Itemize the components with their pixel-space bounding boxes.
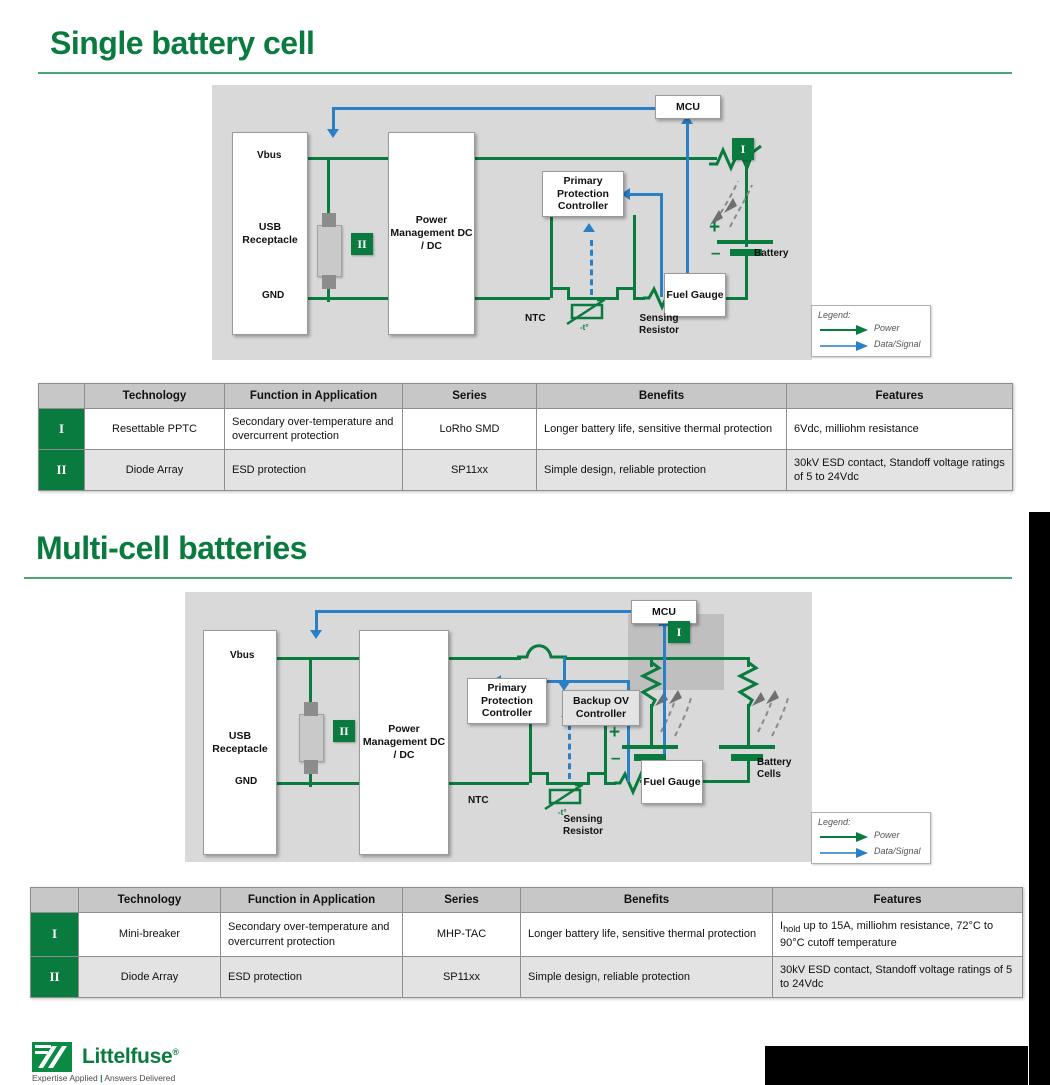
- bottom-right-black-bar: [765, 1046, 1028, 1085]
- cell-technology: Resettable PPTC: [85, 409, 225, 450]
- title-divider-1: [38, 72, 1012, 74]
- tagline-left: Expertise Applied: [32, 1073, 98, 1083]
- signal-sensing-to-ppc-riser: [660, 193, 663, 297]
- wire-pmic-out-vbus-2: [447, 657, 521, 660]
- sensing-resistor-label-2: Sensing Resistor: [563, 814, 603, 838]
- chip-diode-array-II-2: II: [333, 720, 355, 742]
- block-usb-receptacle: USB Receptacle: [232, 132, 308, 335]
- block-power-management-label-2: Power Management DC / DC: [360, 723, 448, 761]
- signal-fuelgauge-to-mcu: [686, 123, 689, 297]
- cell-benefits: Longer battery life, sensitive thermal p…: [521, 913, 773, 957]
- cell-benefits: Simple design, reliable protection: [537, 450, 787, 491]
- signal-mcu-to-pmic-horizontal-2: [315, 610, 635, 613]
- right-edge-black-bar: [1029, 512, 1050, 1085]
- usb-pin-vbus-label-2: Vbus: [230, 650, 254, 662]
- block-usb-receptacle-label-2: USB Receptacle: [204, 730, 276, 756]
- title-divider-2: [24, 577, 1012, 579]
- cell-benefits: Longer battery life, sensitive thermal p…: [537, 409, 787, 450]
- col-technology: Technology: [85, 384, 225, 409]
- table-row: II Diode Array ESD protection SP11xx Sim…: [31, 957, 1023, 998]
- tagline-right: Answers Delivered: [104, 1073, 175, 1083]
- signal-ntc-to-ppc-dashed: [590, 240, 593, 295]
- legend-title-2: Legend:: [818, 817, 851, 827]
- cell1-plate-long: [622, 745, 678, 749]
- brand-name: Littelfuse: [82, 1045, 172, 1068]
- battery-label: Battery: [754, 248, 788, 260]
- cell-function: ESD protection: [221, 957, 403, 998]
- table-row: II Diode Array ESD protection SP11xx Sim…: [39, 450, 1013, 491]
- ntc-temp-coefficient-label: -t°: [580, 323, 589, 333]
- signal-mcu-to-pmic-drop: [332, 107, 335, 131]
- block-power-management-label: Power Management DC / DC: [389, 214, 474, 252]
- cell-index: I: [31, 913, 79, 957]
- block-power-management-2: Power Management DC / DC: [359, 630, 449, 855]
- col-benefits: Benefits: [521, 888, 773, 913]
- slide-page: Single battery cell: [0, 0, 1050, 1085]
- signal-mcu-to-pmic-drop-2: [315, 610, 318, 632]
- section-title-multi-cell-batteries: Multi-cell batteries: [36, 530, 307, 567]
- usb-pin-vbus-label: Vbus: [257, 150, 281, 162]
- legend-data-label: Data/Signal: [874, 339, 921, 349]
- chip-pptc-I-2: I: [668, 621, 690, 643]
- diagram-single-battery-cell: + – Battery -t° NTC Sensing Resistor II …: [212, 85, 812, 360]
- block-fuel-gauge: Fuel Gauge: [664, 273, 726, 317]
- diode-pkg-bottom-lead: [322, 275, 336, 289]
- block-mcu-label-2: MCU: [652, 606, 676, 619]
- battery-plus-sign: +: [709, 217, 720, 240]
- block-fuel-gauge-label: Fuel Gauge: [666, 289, 723, 302]
- wire-ppc-right-leg: [633, 215, 636, 289]
- cell-series: LoRho SMD: [403, 409, 537, 450]
- cell-index: II: [31, 957, 79, 998]
- col-technology: Technology: [79, 888, 221, 913]
- cell-series: SP11xx: [403, 957, 521, 998]
- cell-index: I: [39, 409, 85, 450]
- block-ppc-label: Primary Protection Controller: [543, 175, 623, 213]
- col-index: [39, 384, 85, 409]
- cell-series: MHP-TAC: [403, 913, 521, 957]
- block-primary-protection-controller-2: Primary Protection Controller: [467, 678, 547, 724]
- signal-ntc-to-ppc-dashed-2: [568, 724, 571, 779]
- wire-ppc-left-leg-2: [529, 722, 532, 774]
- spec-table-single-cell: Technology Function in Application Serie…: [38, 383, 1013, 491]
- legend-power-label: Power: [874, 323, 900, 333]
- section-title-single-battery-cell: Single battery cell: [50, 25, 314, 62]
- ntc-label-2: NTC: [468, 795, 489, 807]
- cell-technology: Diode Array: [79, 957, 221, 998]
- littelfuse-wordmark: Littelfuse®: [82, 1045, 179, 1069]
- cell-technology: Mini-breaker: [79, 913, 221, 957]
- legend-data-arrow-icon-2: [820, 847, 870, 859]
- wire-ppc-left-leg: [550, 215, 553, 289]
- table-row: I Mini-breaker Secondary over-temperatur…: [31, 913, 1023, 957]
- col-series: Series: [403, 384, 537, 409]
- diode-pkg-bottom-lead-2: [304, 760, 318, 774]
- cell-index: II: [39, 450, 85, 491]
- block-backup-ov-controller: Backup OV Controller: [562, 690, 640, 726]
- littelfuse-tagline: Expertise Applied | Answers Delivered: [32, 1073, 175, 1083]
- battery-cells-label: Battery Cells: [757, 757, 791, 781]
- heat-flow-arrows-icon-cell2: [744, 680, 800, 750]
- signal-arrow-into-pmic: [327, 129, 339, 138]
- block-ppc-label-2: Primary Protection Controller: [468, 682, 546, 720]
- col-benefits: Benefits: [537, 384, 787, 409]
- table-header-row: Technology Function in Application Serie…: [39, 384, 1013, 409]
- legend-box-2: Legend: Power Data/Signal: [811, 812, 931, 864]
- diode-pkg-top-lead: [322, 213, 336, 227]
- cell-benefits: Simple design, reliable protection: [521, 957, 773, 998]
- cell-technology: Diode Array: [85, 450, 225, 491]
- features-subscript: hold: [783, 924, 800, 934]
- legend-power-arrow-icon: [820, 324, 870, 336]
- legend-box-1: Legend: Power Data/Signal: [811, 305, 931, 357]
- cell-features: 6Vdc, milliohm resistance: [787, 409, 1013, 450]
- signal-arrow-ntc-to-ppc: [583, 223, 595, 232]
- col-index: [31, 888, 79, 913]
- block-fuel-gauge-label-2: Fuel Gauge: [643, 776, 700, 789]
- cell-function: ESD protection: [225, 450, 403, 491]
- wire-battery-negative: [745, 253, 748, 299]
- col-features: Features: [787, 384, 1013, 409]
- diagram-multi-cell-batteries: I +: [185, 592, 812, 862]
- ntc-thermistor-symbol: [564, 297, 616, 331]
- cell-features: Ihold up to 15A, milliohm resistance, 72…: [773, 913, 1023, 957]
- tagline-separator: |: [100, 1073, 102, 1083]
- legend-title-1: Legend:: [818, 310, 851, 320]
- col-series: Series: [403, 888, 521, 913]
- vbus-crossover-bump: [517, 640, 567, 662]
- table-row: I Resettable PPTC Secondary over-tempera…: [39, 409, 1013, 450]
- wire-ppc-right-leg-2: [604, 722, 607, 774]
- sensing-resistor-label: Sensing Resistor: [639, 313, 679, 337]
- diode-pkg-top-lead-2: [304, 702, 318, 716]
- legend-data-label-2: Data/Signal: [874, 846, 921, 856]
- legend-power-label-2: Power: [874, 830, 900, 840]
- diode-array-package-2: [299, 714, 324, 762]
- cell-features: 30kV ESD contact, Standoff voltage ratin…: [787, 450, 1013, 491]
- block-fuel-gauge-2: Fuel Gauge: [641, 760, 703, 804]
- littelfuse-mark-icon: [32, 1042, 76, 1076]
- block-primary-protection-controller: Primary Protection Controller: [542, 171, 624, 217]
- wire-pmic-gnd-out: [472, 297, 550, 300]
- col-function: Function in Application: [221, 888, 403, 913]
- usb-pin-gnd-label: GND: [262, 290, 284, 302]
- signal-sensing-to-ppc-horizontal: [630, 193, 662, 196]
- cell-features: 30kV ESD contact, Standoff voltage ratin…: [773, 957, 1023, 998]
- legend-power-arrow-icon-2: [820, 831, 870, 843]
- block-usb-receptacle-2: USB Receptacle: [203, 630, 277, 855]
- block-power-management: Power Management DC / DC: [388, 132, 475, 335]
- col-features: Features: [773, 888, 1023, 913]
- wire-pmic-gnd-out-2: [447, 782, 529, 785]
- block-backup-ov-label: Backup OV Controller: [563, 695, 639, 721]
- ntc-thermistor-symbol-2: [542, 782, 594, 816]
- features-text: up to 15A, milliohm resistance, 72°C to …: [780, 920, 993, 949]
- cell2-plate-long: [719, 745, 775, 749]
- col-function: Function in Application: [225, 384, 403, 409]
- ntc-label: NTC: [525, 313, 546, 325]
- block-usb-receptacle-label: USB Receptacle: [233, 221, 307, 247]
- legend-data-arrow-icon: [820, 340, 870, 352]
- signal-mcu-to-pmic-horizontal: [332, 107, 662, 110]
- signal-arrow-into-pmic-2: [310, 630, 322, 639]
- usb-pin-gnd-label-2: GND: [235, 776, 257, 788]
- chip-pptc-I: I: [732, 138, 754, 160]
- spec-table-multi-cell: Technology Function in Application Serie…: [30, 887, 1023, 998]
- diode-array-package: [317, 225, 342, 277]
- block-mcu: MCU: [655, 95, 721, 119]
- chip-diode-array-II: II: [351, 233, 373, 255]
- cell-series: SP11xx: [403, 450, 537, 491]
- cells-plus-sign: +: [609, 722, 620, 745]
- registered-mark: ®: [172, 1047, 178, 1057]
- battery-plate-long: [717, 240, 773, 244]
- cell-function: Secondary over-temperature and overcurre…: [225, 409, 403, 450]
- table-header-row: Technology Function in Application Serie…: [31, 888, 1023, 913]
- battery-minus-sign: –: [711, 243, 720, 263]
- cells-minus-sign: –: [611, 748, 620, 768]
- block-mcu-label: MCU: [676, 101, 700, 114]
- cell-function: Secondary over-temperature and overcurre…: [221, 913, 403, 957]
- heat-flow-arrows-icon-cell1: [647, 680, 703, 750]
- wire-pmic-out-vbus: [472, 157, 717, 160]
